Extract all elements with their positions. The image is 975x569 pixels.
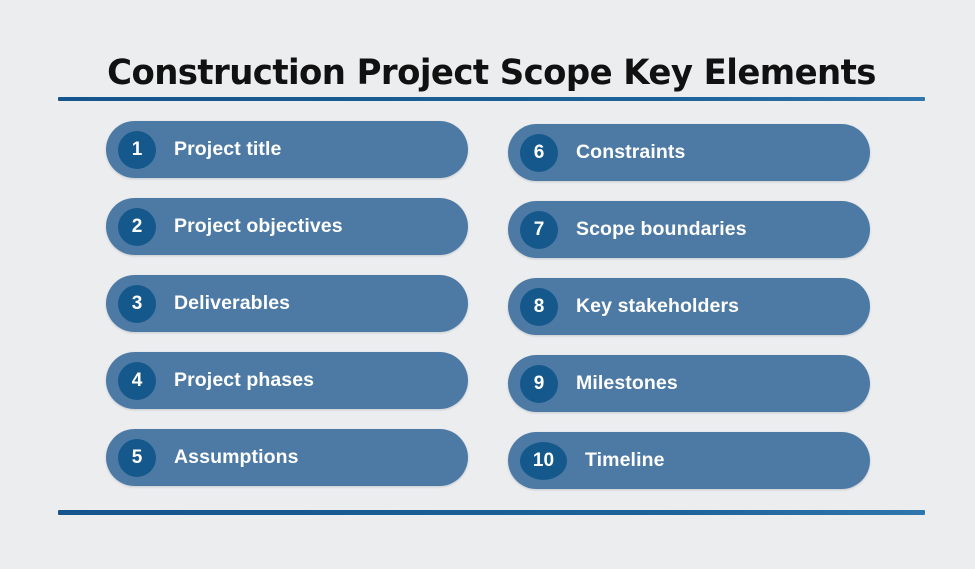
item-label: Project phases xyxy=(174,369,314,392)
list-item[interactable]: 3 Deliverables xyxy=(106,275,468,332)
item-number-badge: 6 xyxy=(520,134,558,172)
list-item[interactable]: 5 Assumptions xyxy=(106,429,468,486)
list-item[interactable]: 8 Key stakeholders xyxy=(508,278,870,335)
list-item[interactable]: 1 Project title xyxy=(106,121,468,178)
list-item[interactable]: 10 Timeline xyxy=(508,432,870,489)
item-number-badge: 9 xyxy=(520,365,558,403)
divider-bottom xyxy=(58,510,925,515)
item-label: Project title xyxy=(174,138,282,161)
list-item[interactable]: 2 Project objectives xyxy=(106,198,468,255)
page-title: Construction Project Scope Key Elements xyxy=(71,52,912,94)
item-label: Key stakeholders xyxy=(576,295,739,318)
list-item[interactable]: 7 Scope boundaries xyxy=(508,201,870,258)
list-item[interactable]: 4 Project phases xyxy=(106,352,468,409)
divider-top xyxy=(58,97,925,101)
item-label: Timeline xyxy=(585,449,665,472)
item-number-badge: 5 xyxy=(118,439,156,477)
item-number-badge: 8 xyxy=(520,288,558,326)
item-number-badge: 1 xyxy=(118,131,156,169)
item-number-badge: 2 xyxy=(118,208,156,246)
item-number-badge: 3 xyxy=(118,285,156,323)
item-label: Deliverables xyxy=(174,292,290,315)
item-label: Constraints xyxy=(576,141,685,164)
list-item[interactable]: 6 Constraints xyxy=(508,124,870,181)
list-item[interactable]: 9 Milestones xyxy=(508,355,870,412)
item-label: Milestones xyxy=(576,372,678,395)
item-number-badge: 4 xyxy=(118,362,156,400)
item-label: Assumptions xyxy=(174,446,299,469)
item-label: Scope boundaries xyxy=(576,218,747,241)
infographic-slide: Construction Project Scope Key Elements … xyxy=(0,0,975,569)
list-column-left: 1 Project title 2 Project objectives 3 D… xyxy=(106,121,468,486)
list-column-right: 6 Constraints 7 Scope boundaries 8 Key s… xyxy=(508,124,870,489)
item-label: Project objectives xyxy=(174,215,343,238)
item-number-badge: 7 xyxy=(520,211,558,249)
item-number-badge: 10 xyxy=(520,442,567,480)
